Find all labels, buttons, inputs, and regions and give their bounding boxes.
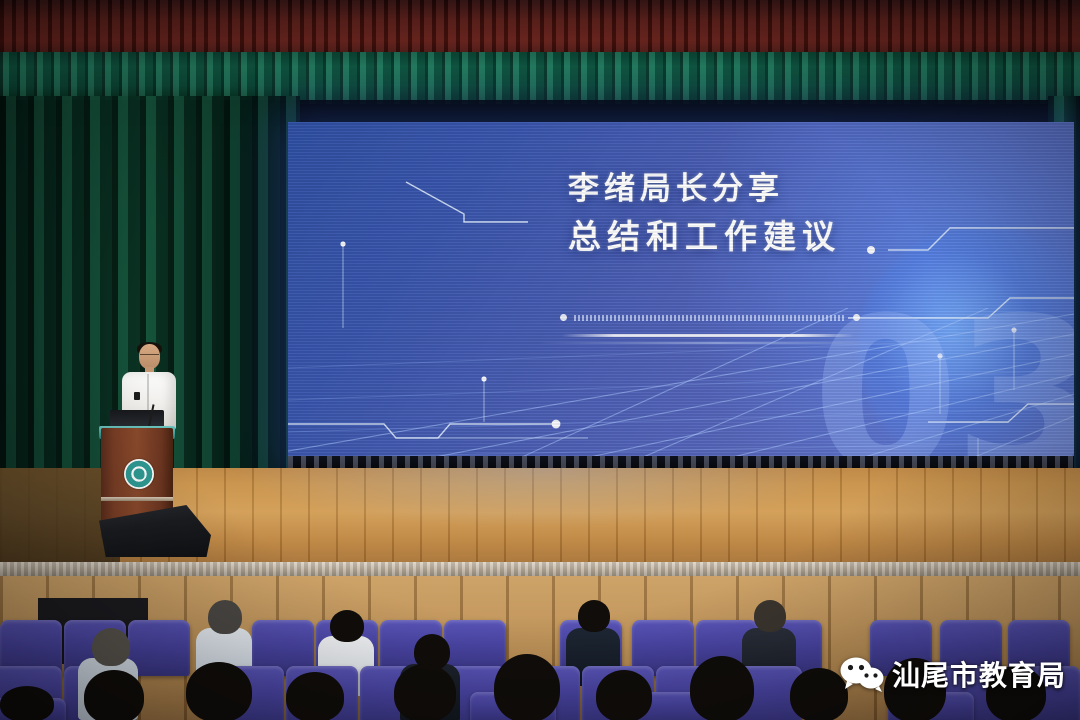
speaker-badge	[134, 392, 140, 400]
audience-person-head	[394, 664, 456, 720]
audience-person-head	[754, 600, 786, 632]
speaker-glasses	[140, 354, 159, 358]
slide-title-line2: 总结和工作建议	[568, 216, 1038, 259]
audience-person-head	[286, 672, 344, 720]
audience-person-head	[84, 670, 144, 720]
stage-floor-screen-glow	[230, 468, 850, 528]
audience-person-head	[596, 670, 652, 720]
audience-person-head	[578, 600, 610, 632]
slide-subtitle-micro: LIXUJUZHANG FENXIANG ZONGJIE HE GONGZUO …	[574, 315, 846, 321]
slide-underline-bar	[562, 334, 854, 337]
slide-title-line1: 李绪局长分享	[568, 170, 1038, 210]
watermark-label: 汕尾市教育局	[892, 654, 1066, 694]
audience-person-head	[186, 662, 252, 720]
subtitle-dot-left	[560, 314, 567, 321]
watermark: 汕尾市教育局	[839, 654, 1066, 694]
slide-subtitle-row: LIXUJUZHANG FENXIANG ZONGJIE HE GONGZUO …	[560, 314, 860, 321]
stage-photo-scene: 03 李绪局长分享 总结和工作建议 LIXUJUZHANG FENXIANG Z…	[0, 0, 1080, 720]
podium-trim-band	[101, 497, 173, 501]
audience-person-head	[494, 654, 560, 720]
audience-person-head	[92, 628, 130, 666]
audience-person-head	[208, 600, 242, 634]
wechat-icon	[839, 656, 885, 692]
auditorium-ceiling	[0, 0, 1080, 58]
audience-person-head	[690, 656, 754, 720]
school-crest-icon	[124, 459, 154, 489]
slide-underline-bar-secondary	[538, 342, 898, 344]
audience-person-head	[0, 686, 54, 720]
subtitle-dot-right	[853, 314, 860, 321]
led-presentation-screen: 03 李绪局长分享 总结和工作建议 LIXUJUZHANG FENXIANG Z…	[288, 122, 1074, 468]
slide-title: 李绪局长分享 总结和工作建议	[568, 170, 1038, 259]
audience-person-head	[330, 610, 364, 642]
